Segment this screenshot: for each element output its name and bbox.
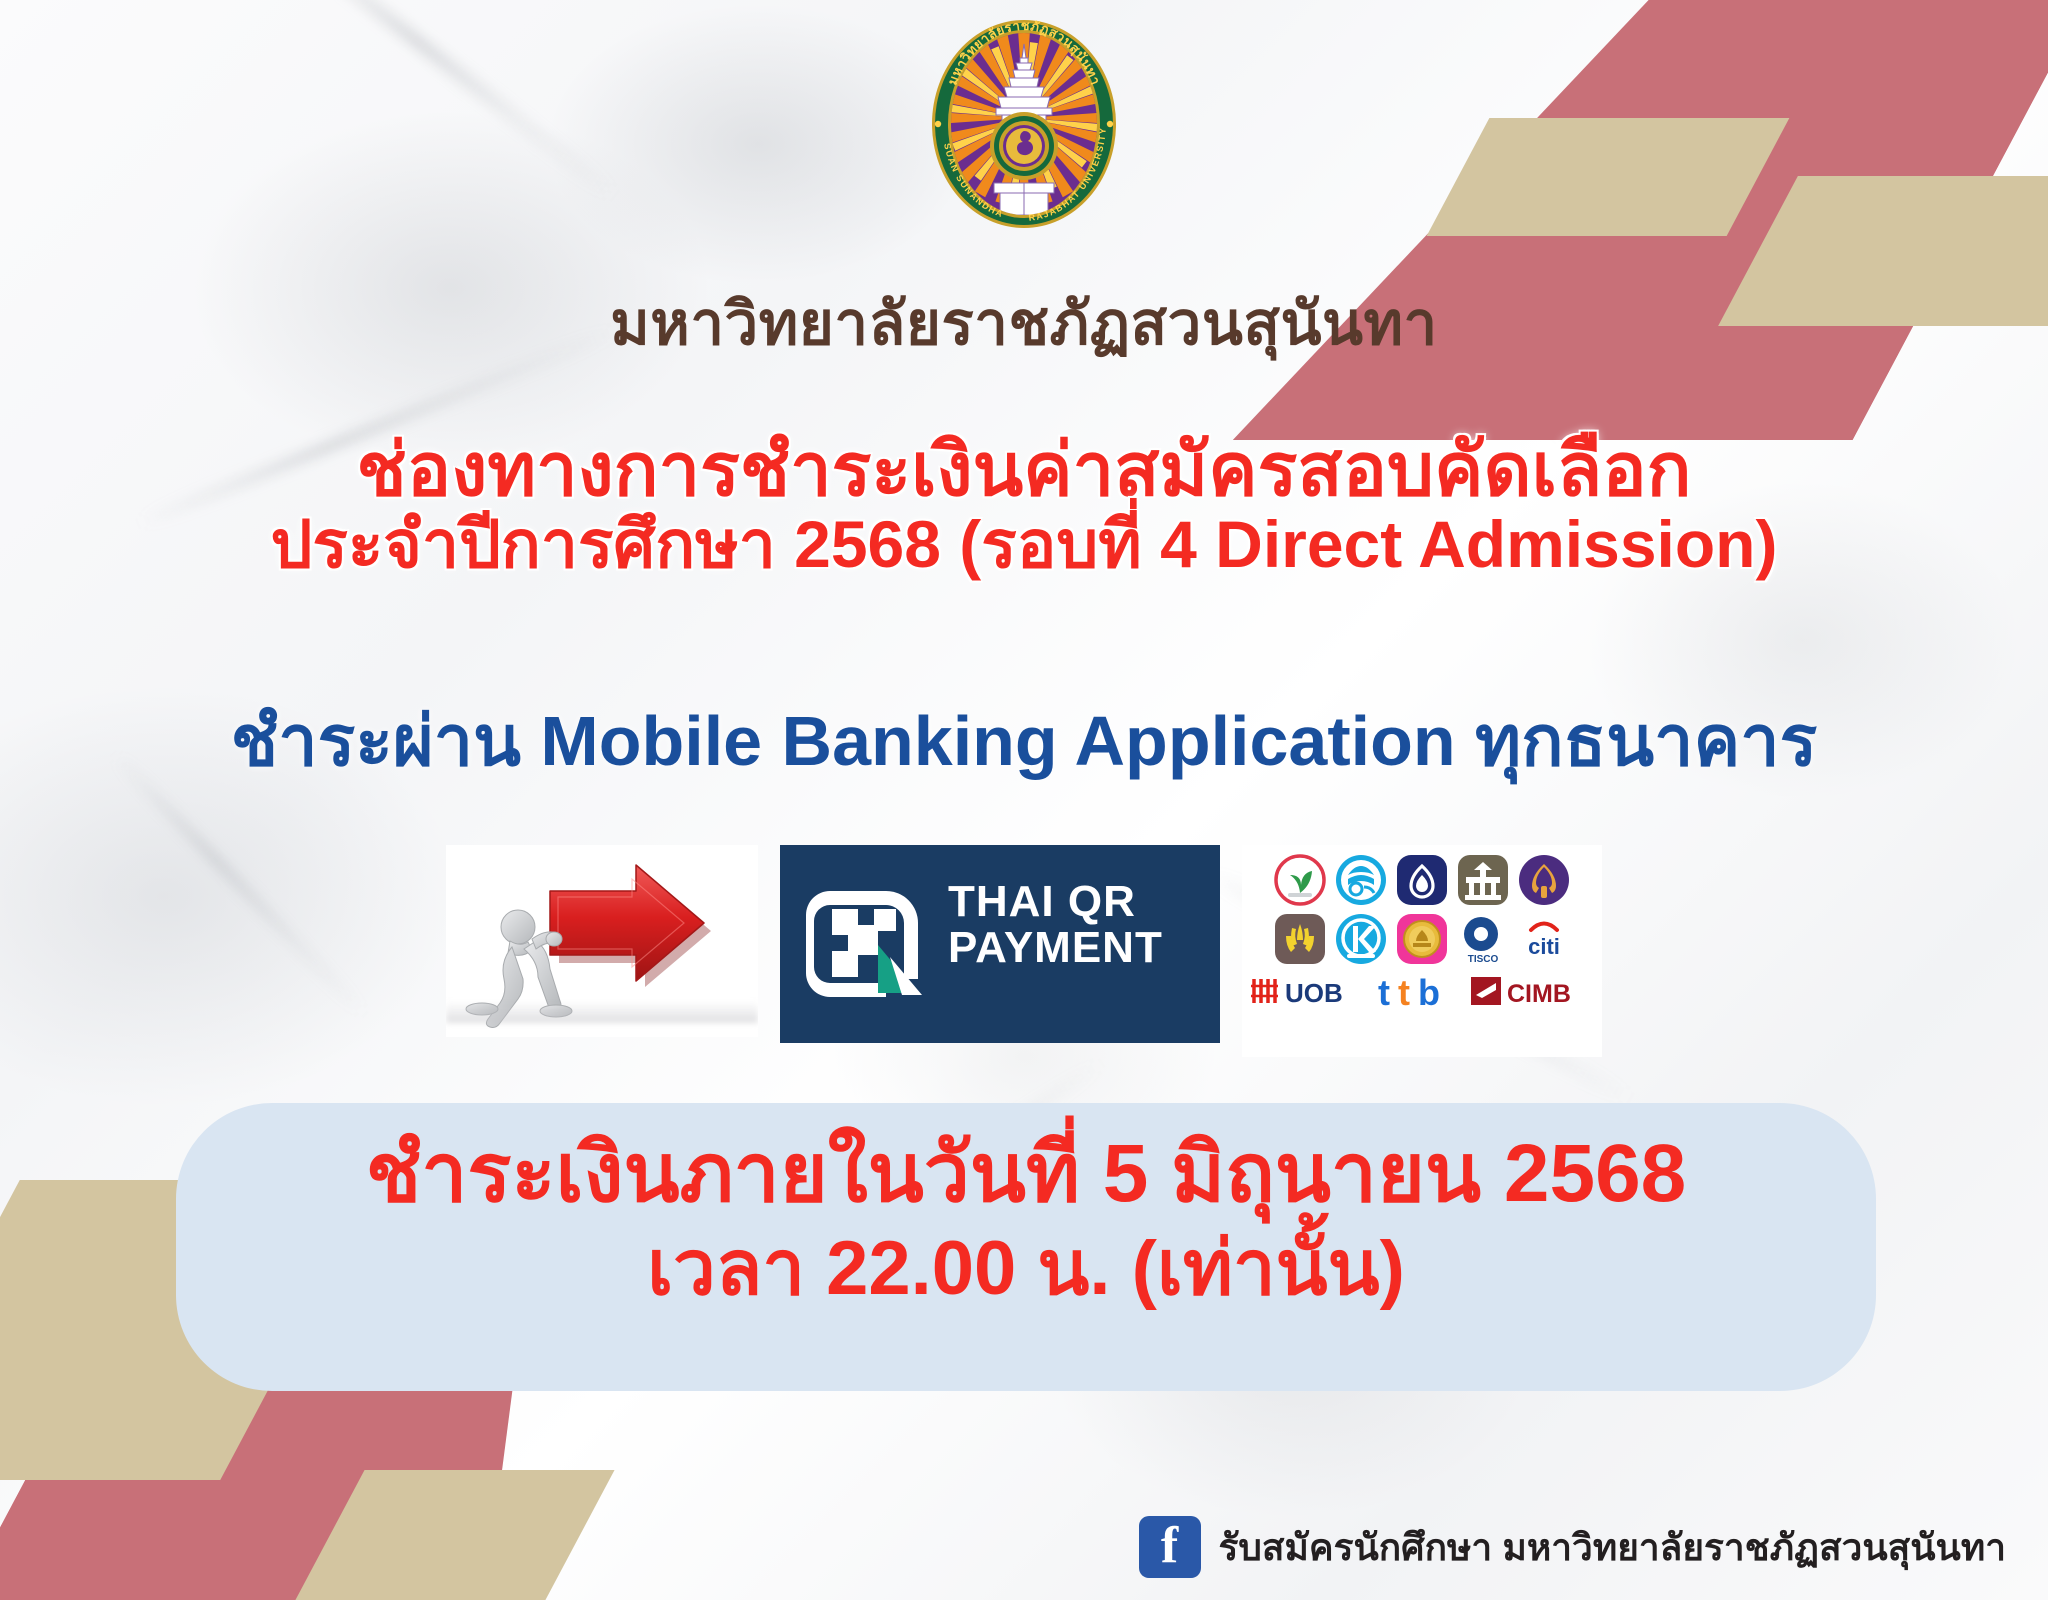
ttb-bank-icon: t t b [1376, 971, 1462, 1011]
facebook-footer[interactable]: รับสมัครนักศึกษา มหาวิทยาลัยราชภัฏสวนสุน… [1139, 1516, 2007, 1578]
headline-line-1: ช่องทางการชำระเงินค่าสมัครสอบคัดเลือก [0, 432, 2048, 507]
svg-text:CIMB: CIMB [1507, 980, 1571, 1008]
university-name: มหาวิทยาลัยราชภัฏสวนสุนันทา [0, 292, 2048, 355]
krungsri-bank-icon [1273, 912, 1327, 966]
deadline-text: ชำระเงินภายในวันที่ 5 มิถุนายน 2568 เวลา… [176, 1128, 1876, 1311]
thai-qr-payment-mark [806, 883, 926, 1003]
svg-text:t: t [1398, 972, 1410, 1013]
thai-qr-payment-logo: THAI QR PAYMENT [780, 845, 1220, 1043]
bank-logo-row-2: TISCO citi [1252, 912, 1592, 966]
headline: ช่องทางการชำระเงินค่าสมัครสอบคัดเลือก ปร… [0, 432, 2048, 579]
ghb-bank-icon [1395, 912, 1449, 966]
tan-parallelogram-bottom-left-2 [295, 1470, 614, 1600]
bank-logo-row-1 [1252, 853, 1592, 907]
payment-announcement-poster: มหาวิทยาลัยราชภัฏสวนสุนันทา SUAN SUNANDH… [0, 0, 2048, 1600]
uob-bank-icon: UOB [1249, 971, 1369, 1011]
scb-bank-icon [1517, 853, 1571, 907]
headline-line-2: ประจำปีการศึกษา 2568 (รอบที่ 4 Direct Ad… [0, 511, 2048, 578]
bangkok-bank-icon [1395, 853, 1449, 907]
deadline-line-1: ชำระเงินภายในวันที่ 5 มิถุนายน 2568 [176, 1128, 1876, 1220]
ssru-university-seal: มหาวิทยาลัยราชภัฏสวนสุนันทา SUAN SUNANDH… [916, 18, 1132, 230]
qr-logo-line-2: PAYMENT [948, 923, 1163, 972]
kasikornbank-icon [1334, 912, 1388, 966]
facebook-page-name[interactable]: รับสมัครนักศึกษา มหาวิทยาลัยราชภัฏสวนสุน… [1219, 1518, 2007, 1577]
svg-text:TISCO: TISCO [1468, 954, 1499, 965]
bank-logo-row-3: UOB t t b CIMB [1252, 971, 1592, 1011]
svg-text:b: b [1418, 972, 1440, 1013]
supported-bank-logos: TISCO citi [1242, 845, 1602, 1057]
krungthai-bank-icon [1334, 853, 1388, 907]
svg-text:UOB: UOB [1285, 978, 1343, 1008]
citi-bank-icon: citi [1517, 912, 1571, 966]
facebook-icon[interactable] [1139, 1516, 1201, 1578]
svg-text:citi: citi [1528, 934, 1560, 959]
baac-bank-icon [1273, 853, 1327, 907]
marble-vein [280, 0, 620, 202]
mobile-banking-line: ชำระผ่าน Mobile Banking Application ทุกธ… [0, 705, 2048, 779]
tisco-bank-icon: TISCO [1456, 912, 1510, 966]
tan-parallelogram-top-right-1 [1427, 118, 1790, 236]
qr-logo-line-1: THAI QR [948, 877, 1136, 926]
arrow-image-floor-shadow [446, 1001, 758, 1023]
deadline-line-2: เวลา 22.00 น. (เท่านั้น) [176, 1226, 1876, 1311]
thai-qr-payment-wordmark: THAI QR PAYMENT [948, 879, 1163, 971]
person-pushing-red-arrow-image [446, 845, 758, 1037]
government-savings-bank-icon [1456, 853, 1510, 907]
rose-wedge-top-right [1233, 0, 2048, 440]
cimb-bank-icon: CIMB [1469, 971, 1595, 1011]
media-strip: THAI QR PAYMENT [0, 845, 2048, 1055]
svg-text:t: t [1378, 972, 1390, 1013]
